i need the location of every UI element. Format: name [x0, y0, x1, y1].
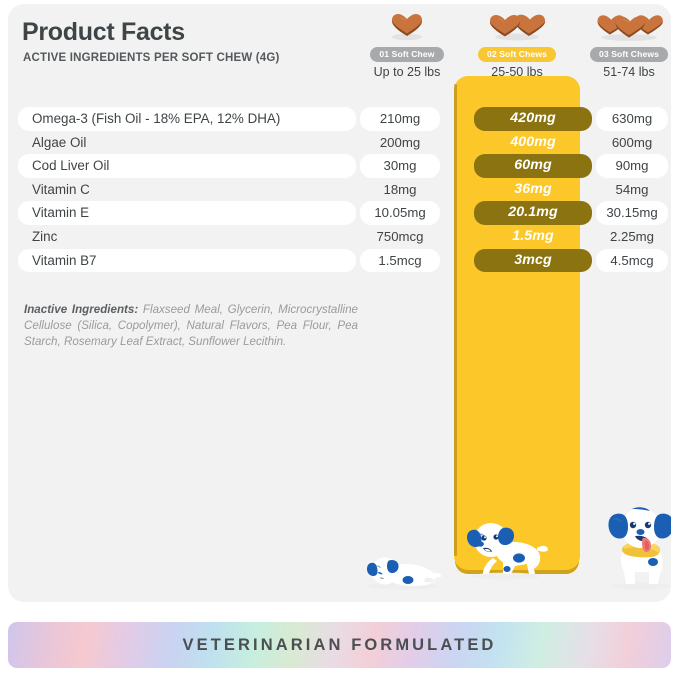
dose-column-1: 01 Soft Chew Up to 25 lbs: [352, 12, 462, 79]
two-heart-chew-icon: [462, 12, 572, 44]
page-subtitle: ACTIVE INGREDIENTS PER SOFT CHEW (4G): [23, 52, 280, 64]
dose-column-3: 03 Soft Chews 51-74 lbs: [574, 12, 671, 79]
one-heart-chew-icon: [352, 12, 462, 44]
medium-dog-standing-illustration: [463, 514, 549, 585]
table-row: Omega-3 (Fish Oil - 18% EPA, 12% DHA) 21…: [8, 107, 671, 131]
ingredient-value-2: 420mg: [474, 107, 592, 131]
dose-column-headers: 01 Soft Chew Up to 25 lbs 02 Soft Chews …: [352, 12, 671, 74]
ingredient-name: Vitamin B7: [32, 249, 97, 273]
ingredient-value-1: 210mg: [360, 107, 440, 131]
table-row: Vitamin C 18mg 36mg 54mg: [8, 178, 671, 202]
table-row: Vitamin B7 1.5mcg 3mcg 4.5mcg: [8, 249, 671, 273]
ingredient-value-3: 630mg: [596, 107, 668, 131]
ingredient-value-3: 600mg: [596, 131, 668, 155]
inactive-ingredients-label: Inactive Ingredients:: [24, 303, 138, 316]
dose-badge-3: 03 Soft Chews: [590, 47, 668, 62]
table-row: Cod Liver Oil 30mg 60mg 90mg: [8, 154, 671, 178]
inactive-ingredients: Inactive Ingredients: Flaxseed Meal, Gly…: [24, 302, 358, 351]
ingredient-value-3: 90mg: [596, 154, 668, 178]
ingredient-value-3: 2.25mg: [596, 225, 668, 249]
dose-badge-1: 01 Soft Chew: [370, 47, 443, 62]
ingredient-value-2: 400mg: [474, 131, 592, 155]
dose-weight-3: 51-74 lbs: [574, 65, 671, 79]
table-row: Zinc 750mcg 1.5mg 2.25mg: [8, 225, 671, 249]
table-row: Algae Oil 200mg 400mg 600mg: [8, 131, 671, 155]
ingredient-value-3: 30.15mg: [596, 201, 668, 225]
ingredient-value-3: 4.5mcg: [596, 249, 668, 273]
ingredient-name: Vitamin E: [32, 201, 89, 225]
ingredient-value-1: 18mg: [360, 178, 440, 202]
active-ingredients-table: Omega-3 (Fish Oil - 18% EPA, 12% DHA) 21…: [8, 107, 671, 272]
dose-column-2: 02 Soft Chews 25-50 lbs: [462, 12, 572, 79]
product-facts-card: Product Facts ACTIVE INGREDIENTS PER SOF…: [8, 4, 671, 602]
dose-badge-2: 02 Soft Chews: [478, 47, 556, 62]
ingredient-name: Cod Liver Oil: [32, 154, 109, 178]
product-facts-infographic: Product Facts ACTIVE INGREDIENTS PER SOF…: [0, 0, 679, 676]
large-dog-collar-illustration: [602, 502, 671, 595]
ingredient-value-1: 1.5mcg: [360, 249, 440, 273]
ingredient-value-2: 1.5mg: [474, 225, 592, 249]
three-heart-chew-icon: [574, 12, 671, 44]
ingredient-name: Vitamin C: [32, 178, 90, 202]
ingredient-name: Algae Oil: [32, 131, 86, 155]
ingredient-value-1: 10.05mg: [360, 201, 440, 225]
row-name-pill: [18, 225, 356, 249]
ingredient-value-1: 30mg: [360, 154, 440, 178]
page-title: Product Facts: [22, 18, 185, 47]
ingredient-value-2: 20.1mg: [474, 201, 592, 225]
small-puppy-lying-illustration: [363, 544, 443, 595]
banner-text: VETERINARIAN FORMULATED: [183, 636, 497, 655]
veterinarian-formulated-banner: VETERINARIAN FORMULATED: [8, 622, 671, 668]
table-row: Vitamin E 10.05mg 20.1mg 30.15mg: [8, 201, 671, 225]
ingredient-name: Zinc: [32, 225, 57, 249]
ingredient-value-1: 750mcg: [360, 225, 440, 249]
ingredient-value-1: 200mg: [360, 131, 440, 155]
ingredient-value-2: 3mcg: [474, 249, 592, 273]
ingredient-value-2: 60mg: [474, 154, 592, 178]
ingredient-name: Omega-3 (Fish Oil - 18% EPA, 12% DHA): [32, 107, 280, 131]
ingredient-value-3: 54mg: [596, 178, 668, 202]
dose-weight-1: Up to 25 lbs: [352, 65, 462, 79]
ingredient-value-2: 36mg: [474, 178, 592, 202]
